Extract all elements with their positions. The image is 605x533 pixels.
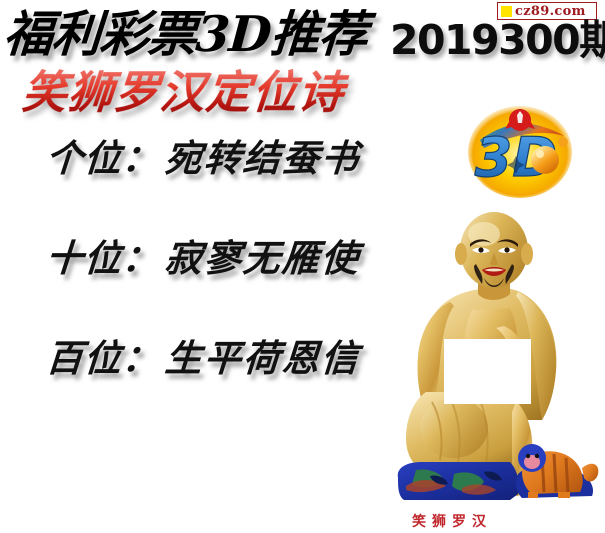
poem-phrase: 生平荷恩信 xyxy=(163,336,361,380)
poem-position-label: 十位 xyxy=(44,236,123,280)
issue-number: 2019300期 xyxy=(390,16,602,64)
lottery-poster: cz89.com 福利彩票3D推荐 2019300期 笑狮罗汉定位诗 个位：宛转… xyxy=(0,0,605,533)
poem-line: 十位：寂寥无雁使 xyxy=(44,232,378,284)
poem-phrase: 寂寥无雁使 xyxy=(163,236,361,280)
poem-position-label: 百位 xyxy=(44,336,123,380)
logo-square-icon xyxy=(501,6,512,17)
page-subtitle: 笑狮罗汉定位诗 xyxy=(20,66,385,120)
poem-position-label: 个位 xyxy=(44,136,123,180)
poem-line: 个位：宛转结蚕书 xyxy=(44,132,378,184)
3d-lottery-logo-icon: 3D xyxy=(466,100,574,200)
poem-line: 百位：生平荷恩信 xyxy=(44,332,378,384)
poem-block: 个位：宛转结蚕书 十位：寂寥无雁使 百位：生平荷恩信 xyxy=(46,132,376,384)
poem-phrase: 宛转结蚕书 xyxy=(163,136,361,180)
poem-colon: ： xyxy=(120,236,166,280)
poem-colon: ： xyxy=(120,136,166,180)
censor-patch xyxy=(444,339,531,404)
poem-colon: ： xyxy=(120,336,166,380)
artwork-caption: 笑狮罗汉 xyxy=(412,512,512,532)
page-title: 福利彩票3D推荐 xyxy=(2,6,398,62)
